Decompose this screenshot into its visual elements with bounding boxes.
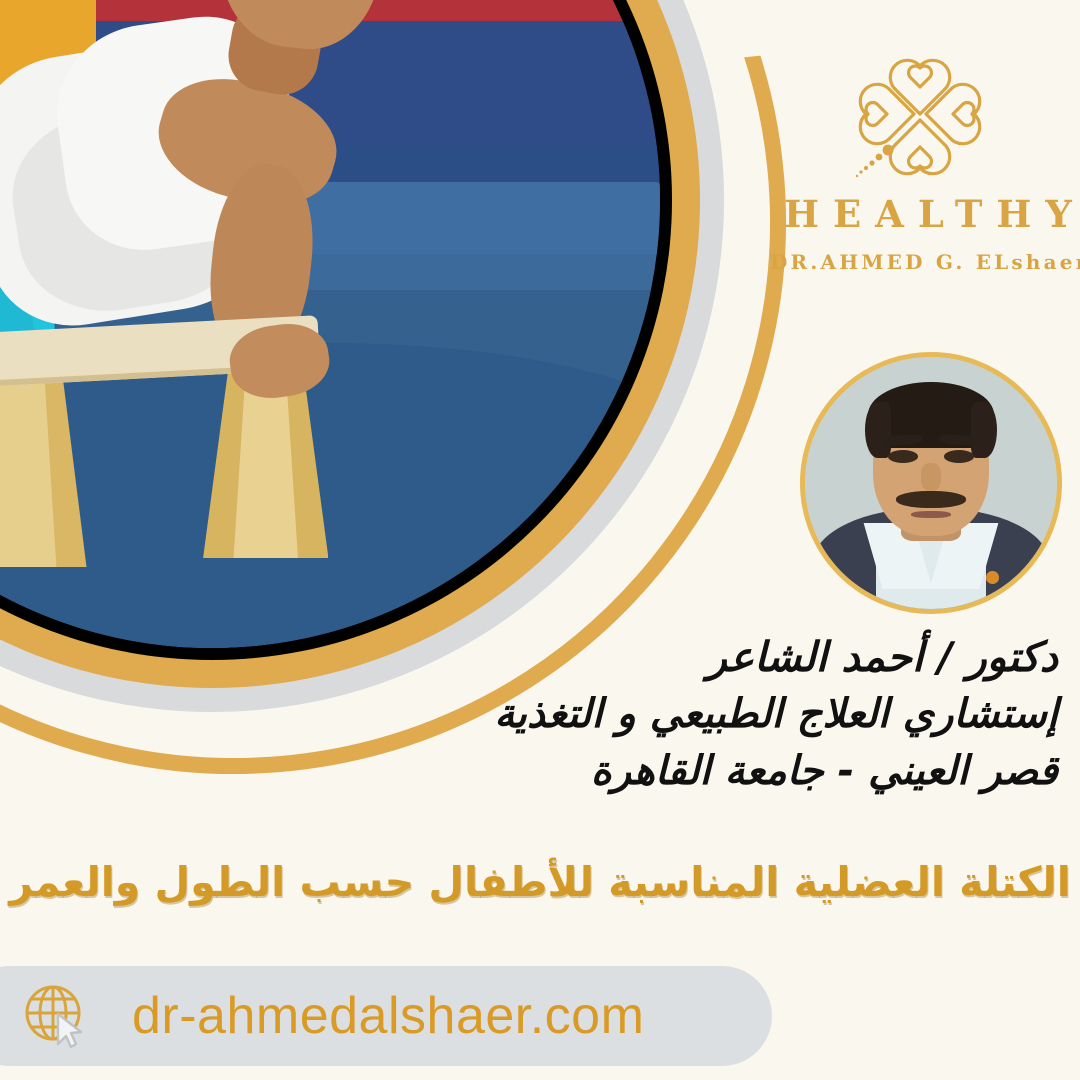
headline-text: الكتلة العضلية المناسبة للأطفال حسب الطو…: [0, 858, 1080, 906]
credential-line-name: دكتور / أحمد الشاعر: [18, 628, 1058, 686]
website-url-text[interactable]: dr-ahmedalshaer.com: [132, 986, 644, 1046]
logo-subtitle: DR.AHMED G. ELshaer: [770, 250, 1070, 274]
portrait-eye-left: [888, 450, 918, 463]
portrait-moustache: [896, 491, 967, 509]
brand-logo: HEALTHY DR.AHMED G. ELshaer: [770, 40, 1070, 274]
portrait-nose: [921, 463, 941, 491]
credential-line-specialty: إستشاري العلاج الطبيعي و التغذية: [18, 686, 1058, 743]
website-bar[interactable]: dr-ahmedalshaer.com: [0, 966, 772, 1066]
credentials-block: دكتور / أحمد الشاعر إستشاري العلاج الطبي…: [18, 628, 1058, 800]
credential-line-institution: قصر العيني - جامعة القاهرة: [18, 743, 1058, 800]
portrait-mouth: [911, 511, 951, 519]
portrait-eye-right: [944, 450, 974, 463]
portrait-lapel-pin: [986, 571, 999, 584]
globe-cursor-icon: [22, 982, 90, 1050]
gym-blue-mat: [0, 343, 660, 648]
doctor-portrait-avatar: [800, 352, 1062, 614]
logo-title: HEALTHY: [770, 192, 1070, 236]
four-heart-clover-logo-icon: [840, 40, 1000, 188]
portrait-hair-left: [865, 402, 890, 457]
poster-canvas: HEALTHY DR.AHMED G. ELshaer دكتور / أحمد…: [0, 0, 1080, 1080]
portrait-hair-right: [971, 402, 996, 457]
